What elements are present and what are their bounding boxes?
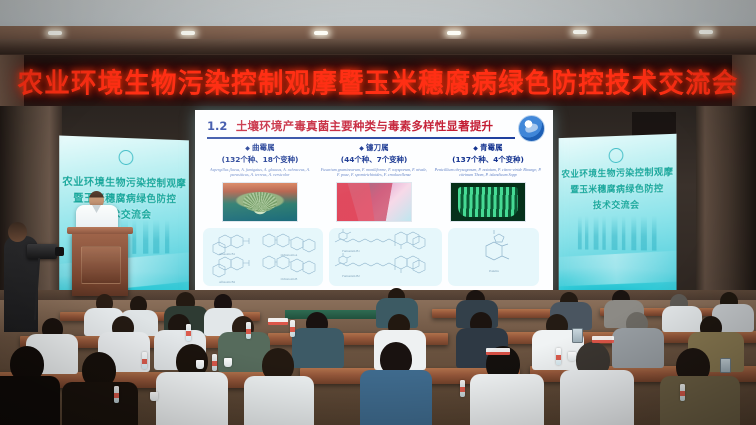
fusarium-macroconidia-micrograph xyxy=(336,182,412,222)
chemical-structure-row: Aflatoxin B1 Aflatoxin B2 Ochratoxin A O… xyxy=(203,228,545,286)
ceiling-light xyxy=(699,30,713,34)
attendee-body xyxy=(612,328,664,368)
genus-columns: ◆曲霉属 (132个种、18个变种) Aspergillus flavus, A… xyxy=(203,142,545,222)
attendee-body xyxy=(470,374,544,425)
podium-front-panel xyxy=(81,246,121,284)
water-bottle xyxy=(186,324,191,341)
podium xyxy=(72,232,128,296)
chem-label: Aflatoxin B1 xyxy=(219,252,236,256)
attendee-body xyxy=(662,306,702,332)
chem-label: Fumonisin B1 xyxy=(342,249,360,253)
water-bottle xyxy=(556,348,561,365)
genus-species-list: Fusarium graminearum, F. moniliforme, F.… xyxy=(320,167,428,179)
paper-cup xyxy=(224,358,232,367)
ceiling-light xyxy=(181,31,195,35)
name-card xyxy=(268,318,288,325)
chem-label: Ochratoxin B xyxy=(281,277,298,281)
backdrop-title-line2: 暨玉米穗腐病绿色防控 xyxy=(559,181,677,196)
wall-column-right xyxy=(696,106,756,306)
penicillium-conidiophore-micrograph xyxy=(450,182,526,222)
name-card xyxy=(592,336,614,343)
paper-cup xyxy=(568,352,576,361)
slide-title: 土壤环境产毒真菌主要种类与毒素多样性显著提升 xyxy=(236,119,493,133)
fusarium-toxin-structures: Fumonisin B1 Fumonisin B2 xyxy=(329,228,442,286)
backdrop-logo-icon xyxy=(609,148,624,163)
water-bottle xyxy=(212,354,217,371)
bullet-diamond-icon: ◆ xyxy=(359,145,364,152)
backdrop-wave-highlight xyxy=(559,250,677,287)
attendee-body xyxy=(0,376,60,425)
banner-title-text: 农业环境生物污染控制观摩暨玉米穗腐病绿色防控技术交流会 xyxy=(18,61,739,100)
attendee-body xyxy=(62,382,138,425)
ceiling-light xyxy=(447,31,461,35)
video-camera xyxy=(27,244,57,259)
paper-cup xyxy=(196,360,204,369)
water-bottle xyxy=(460,380,465,397)
conference-hall-photo: 农业环境生物污染控制观摩暨玉米穗腐病绿色防控技术交流会 农业环境生物污染控制观摩… xyxy=(0,0,756,425)
bullet-diamond-icon: ◆ xyxy=(245,145,250,152)
fumonisin-structure-svg: Fumonisin B1 Fumonisin B2 xyxy=(329,228,442,286)
genus-heading: ◆镰刀属 xyxy=(320,142,428,153)
presentation-screen: 1.2 土壤环境产毒真菌主要种类与毒素多样性显著提升 ◆曲霉属 (132个种、1… xyxy=(195,110,553,295)
genus-name: 曲霉属 xyxy=(252,143,275,152)
genus-column-penicillium: ◆青霉属 (137个种、4个变种) Penicillium chrysogenu… xyxy=(431,142,545,222)
water-bottle xyxy=(680,384,685,401)
genus-species-list: Aspergillus flavus, A. fumigatus, A. gla… xyxy=(206,167,314,179)
genus-heading: ◆曲霉属 xyxy=(206,142,314,153)
attendee-body xyxy=(292,328,344,368)
aflatoxin-structure-svg: Aflatoxin B1 Aflatoxin B2 Ochratoxin A O… xyxy=(203,228,323,286)
attendee-body xyxy=(360,370,432,425)
water-bottle xyxy=(114,386,119,403)
name-card xyxy=(486,348,510,355)
water-bottle xyxy=(246,322,251,339)
genus-count: (137个种、4个变种) xyxy=(434,154,542,165)
backdrop-logo-icon xyxy=(119,150,134,165)
chem-label: Ochratoxin A xyxy=(281,253,299,257)
aspergillus-conidiophore-micrograph xyxy=(222,182,298,222)
backdrop-title-line1: 农业环境生物污染控制观摩 xyxy=(59,173,189,190)
backdrop-title-line1: 农业环境生物污染控制观摩 xyxy=(559,165,677,180)
audience-area xyxy=(0,300,756,425)
patulin-structure-svg: Patulin xyxy=(448,228,539,286)
ceiling-beam xyxy=(0,26,756,40)
led-banner: 农业环境生物污染控制观摩暨玉米穗腐病绿色防控技术交流会 xyxy=(0,54,756,108)
genus-count: (132个种、18个变种) xyxy=(206,154,314,165)
attendee-body xyxy=(156,372,228,425)
chem-label: Aflatoxin B2 xyxy=(219,280,236,284)
paper-cup xyxy=(150,392,158,401)
backdrop-panel-right: 农业环境生物污染控制观摩 暨玉米穗腐病绿色防控 技术交流会 xyxy=(559,134,677,298)
penicillium-toxin-structures: Patulin xyxy=(448,228,539,286)
aspergillus-toxin-structures: Aflatoxin B1 Aflatoxin B2 Ochratoxin A O… xyxy=(203,228,323,286)
genus-heading: ◆青霉属 xyxy=(434,142,542,153)
genus-species-list: Penicillium chrysogenum, P. notatum, P. … xyxy=(434,167,542,179)
bullet-diamond-icon: ◆ xyxy=(473,145,478,152)
videographer-head xyxy=(8,222,27,242)
water-bottle xyxy=(290,320,295,337)
ceiling-light xyxy=(573,30,587,34)
genus-column-fusarium: ◆镰刀属 (44个种、7个变种) Fusarium graminearum, F… xyxy=(317,142,431,222)
institute-emblem-icon xyxy=(518,115,545,142)
ceiling-light xyxy=(48,31,62,35)
ceiling-light xyxy=(314,31,328,35)
attendee-body xyxy=(660,376,740,425)
backdrop-title-line2: 暨玉米穗腐病绿色防控 xyxy=(59,189,189,205)
attendee-body xyxy=(244,376,314,425)
slide-title-underline xyxy=(207,137,515,139)
water-bottle xyxy=(142,352,147,369)
chem-label: Patulin xyxy=(489,269,499,273)
genus-name: 青霉属 xyxy=(480,143,503,152)
attendee-body xyxy=(560,370,634,425)
backdrop-title-line3: 技术交流会 xyxy=(559,197,677,211)
chem-label: Fumonisin B2 xyxy=(342,274,360,278)
smartphone xyxy=(720,358,731,373)
smartphone xyxy=(572,328,583,343)
podium-top xyxy=(67,227,133,234)
genus-name: 镰刀属 xyxy=(366,143,389,152)
genus-column-aspergillus: ◆曲霉属 (132个种、18个变种) Aspergillus flavus, A… xyxy=(203,142,317,222)
slide-title-row: 1.2 土壤环境产毒真菌主要种类与毒素多样性显著提升 xyxy=(207,117,543,135)
slide-section-number: 1.2 xyxy=(207,119,227,133)
genus-count: (44个种、7个变种) xyxy=(320,154,428,165)
